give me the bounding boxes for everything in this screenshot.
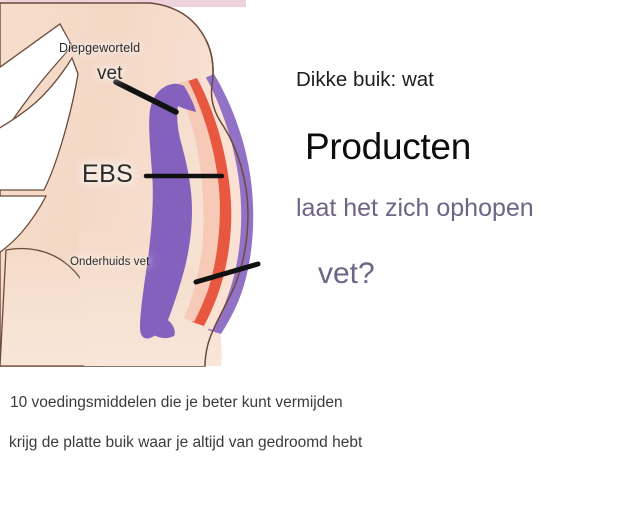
annotation-ebs: EBS	[82, 160, 133, 189]
anatomy-illustration: Diepgeworteld vet EBS Onderhuids vet	[0, 0, 320, 372]
page-root: Diepgeworteld vet EBS Onderhuids vet Dik…	[0, 0, 640, 532]
caption-line-2: krijg de platte buik waar je altijd van …	[9, 434, 362, 452]
headline-line-3: laat het zich ophopen	[296, 194, 534, 223]
annotation-deep-fat-line2: vet	[97, 63, 122, 85]
annotation-deep-fat-line1: Diepgeworteld	[59, 41, 140, 55]
annotation-subcutaneous-fat: Onderhuids vet	[70, 256, 149, 268]
caption-block: 10 voedingsmiddelen die je beter kunt ve…	[0, 372, 640, 532]
headline-line-4-vet: vet?	[318, 257, 375, 291]
headline-line-2-producten: Producten	[305, 126, 471, 168]
caption-line-1: 10 voedingsmiddelen die je beter kunt ve…	[10, 394, 343, 412]
headline-line-1: Dikke buik: wat	[296, 68, 434, 92]
abdomen-cross-section-svg	[0, 0, 320, 372]
headline-block: Dikke buik: wat Producten laat het zich …	[296, 0, 640, 372]
